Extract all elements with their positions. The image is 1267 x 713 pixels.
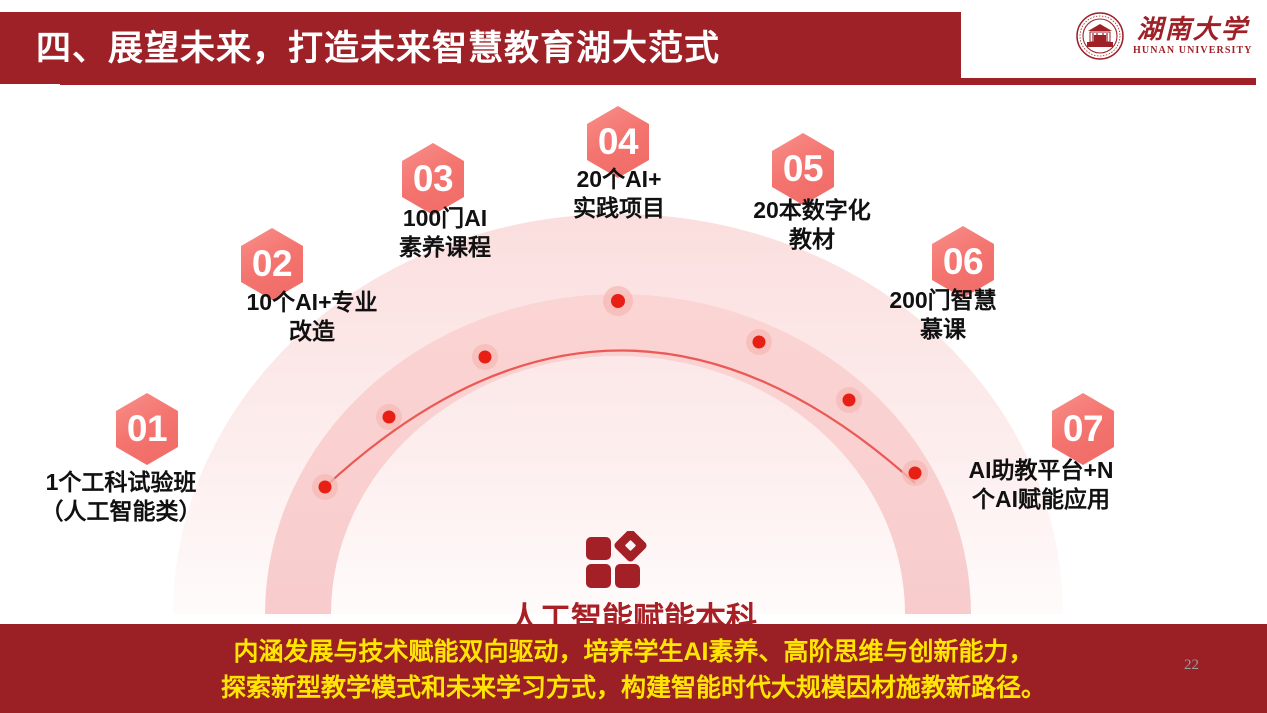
item-label-04: 20个AI+ 实践项目 bbox=[509, 165, 729, 224]
logo-text-block: 湖南大学 HUNAN UNIVERSITY bbox=[1133, 16, 1253, 55]
hex-badge-number: 05 bbox=[783, 148, 823, 190]
item-label-06: 200门智慧 慕课 bbox=[833, 286, 1053, 345]
hex-badge-number: 03 bbox=[413, 158, 453, 200]
header-underline-rule bbox=[60, 78, 1256, 85]
item-label-02: 10个AI+专业 改造 bbox=[202, 288, 422, 347]
diagram-stage: 01 1个工科试验班 （人工智能类） 02 10个AI+专业 改造 03 100… bbox=[0, 86, 1267, 614]
logo-chinese-name: 湖南大学 bbox=[1137, 16, 1249, 43]
university-seal-icon bbox=[1075, 11, 1125, 61]
header-left-accent-tab bbox=[0, 12, 28, 84]
hex-badge-number: 01 bbox=[127, 408, 167, 450]
hex-badge-number: 02 bbox=[252, 243, 292, 285]
item-label-05: 20本数字化 教材 bbox=[702, 196, 922, 255]
item-label-01: 1个工科试验班 （人工智能类） bbox=[11, 468, 231, 527]
slide-root: 四、展望未来，打造未来智慧教育湖大范式 湖南大学 HUNAN UNIVERSIT… bbox=[0, 0, 1267, 713]
hex-badge-number: 07 bbox=[1063, 408, 1103, 450]
page-number: 22 bbox=[1184, 657, 1199, 674]
university-logo: 湖南大学 HUNAN UNIVERSITY bbox=[1075, 8, 1253, 64]
item-label-07: AI助教平台+N 个AI赋能应用 bbox=[931, 456, 1151, 515]
hex-badge-number: 04 bbox=[598, 121, 638, 163]
footer-summary-text: 内涵发展与技术赋能双向驱动，培养学生AI素养、高阶思维与创新能力， 探索新型教学… bbox=[0, 634, 1267, 707]
page-title: 四、展望未来，打造未来智慧教育湖大范式 bbox=[36, 22, 956, 76]
logo-english-name: HUNAN UNIVERSITY bbox=[1133, 45, 1253, 56]
hex-badge-number: 06 bbox=[943, 241, 983, 283]
building-blocks-icon bbox=[586, 531, 652, 589]
